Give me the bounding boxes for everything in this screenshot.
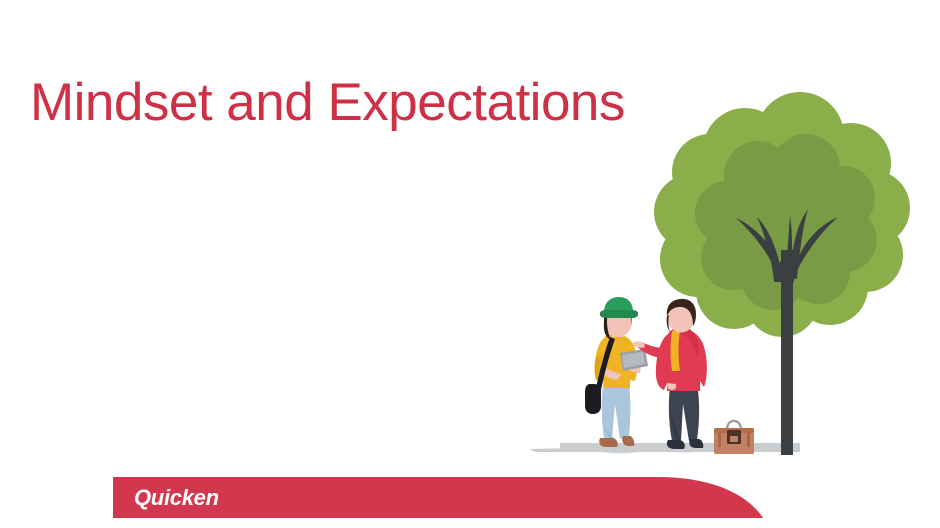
ground-line-icon	[530, 443, 800, 452]
person-man-gesturing	[633, 299, 707, 453]
tree-trunk-flare	[774, 257, 794, 282]
tree-trunk-icon	[781, 250, 793, 455]
tree-foliage-outer	[654, 92, 910, 337]
slide-canvas: Mindset and Expectations	[0, 0, 940, 528]
brand-logo-quicken: Quicken	[134, 485, 219, 511]
briefcase-icon	[714, 421, 754, 454]
person-woman-with-tablet	[585, 297, 648, 454]
tree-foliage-inner	[695, 134, 877, 310]
page-title: Mindset and Expectations	[30, 72, 670, 134]
tree-branches-icon	[736, 209, 838, 281]
tree-icon	[654, 92, 910, 455]
